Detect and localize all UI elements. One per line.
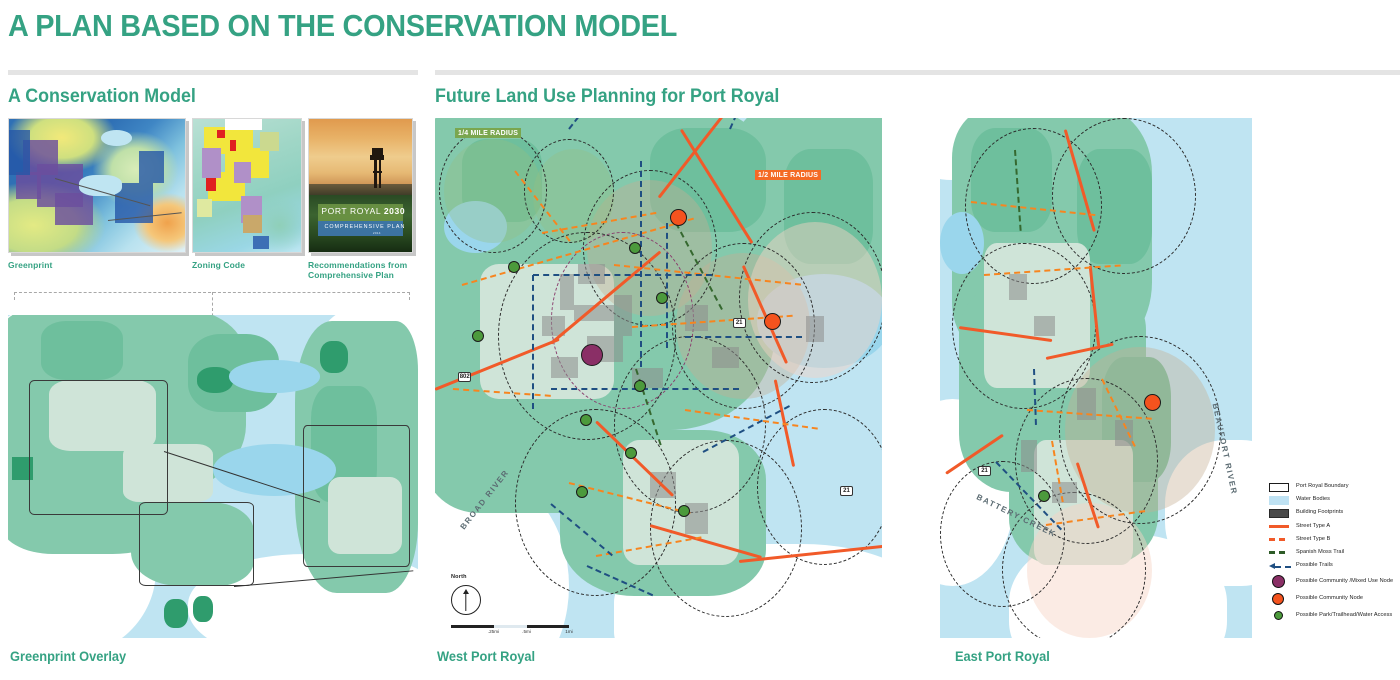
radius-tag-half-mile: 1/2 MILE RADIUS bbox=[755, 170, 821, 180]
greenprint-priority bbox=[197, 367, 234, 393]
possible-trail-arrow-icon bbox=[1269, 561, 1291, 571]
panel-caption-east-port-royal: East Port Royal bbox=[955, 649, 1050, 664]
map-east-port-royal[interactable]: 21 BEAUFORT RIVER BATTERY CREEK bbox=[940, 118, 1252, 638]
zoning-parcel bbox=[202, 148, 221, 177]
legend-label: Water Bodies bbox=[1296, 495, 1330, 504]
building-footprint bbox=[1034, 316, 1056, 337]
legend-label: Possible Community /Mixed Use Node bbox=[1296, 577, 1393, 586]
section-title-conservation-model: A Conservation Model bbox=[8, 86, 196, 108]
legend-item: Water Bodies bbox=[1269, 495, 1395, 505]
legend-item: Port Royal Boundary bbox=[1269, 482, 1395, 492]
building-footprint bbox=[1021, 440, 1037, 471]
legend-item: Street Type B bbox=[1269, 535, 1395, 545]
town-boundary bbox=[139, 502, 254, 586]
scale-label: .5mi bbox=[522, 629, 531, 634]
node-mixed-use[interactable] bbox=[581, 344, 603, 366]
possible-trail bbox=[640, 161, 642, 367]
community-node-swatch-icon bbox=[1269, 594, 1291, 604]
legend-label: Possible Community Node bbox=[1296, 594, 1363, 603]
highway-shield: 21 bbox=[733, 318, 746, 328]
zoning-parcel bbox=[206, 178, 216, 191]
zoning-parcel bbox=[230, 140, 236, 151]
legend-item: Street Type A bbox=[1269, 522, 1395, 532]
greenprint-water bbox=[101, 130, 133, 146]
section-divider-right bbox=[435, 70, 1400, 75]
thumbnail-comprehensive-plan[interactable]: PORT ROYAL 2030 COMPREHENSIVE PLAN 2014 bbox=[308, 118, 413, 253]
town-boundary bbox=[303, 425, 410, 567]
mixed-use-node-swatch-icon bbox=[1269, 576, 1291, 586]
book-cover-year: 2014 bbox=[373, 231, 381, 235]
greenprint-zone bbox=[9, 130, 30, 175]
legend-label: Possible Park/Trailhead/Water Access bbox=[1296, 611, 1392, 620]
greenprint-priority bbox=[164, 599, 189, 628]
conservation-parcel bbox=[41, 321, 123, 379]
panel-caption-greenprint-overlay: Greenprint Overlay bbox=[10, 649, 126, 664]
thumbnail-caption-greenprint: Greenprint bbox=[8, 260, 178, 270]
town-boundary bbox=[29, 380, 168, 516]
creek bbox=[229, 360, 319, 392]
page-title: A PLAN BASED ON THE CONSERVATION MODEL bbox=[8, 8, 677, 44]
water-swatch-icon bbox=[1269, 495, 1291, 505]
legend-label: Street Type B bbox=[1296, 535, 1330, 544]
node-park[interactable] bbox=[678, 505, 690, 517]
map-legend: Port Royal Boundary Water Bodies Buildin… bbox=[1269, 482, 1395, 626]
scale-label: 1mi bbox=[565, 629, 572, 634]
greenprint-zone bbox=[55, 193, 94, 225]
radius-ring bbox=[739, 212, 882, 384]
zoning-parcel bbox=[243, 215, 262, 234]
thumbnail-caption-comprehensive-plan: Recommendations from Comprehensive Plan bbox=[308, 260, 413, 281]
legend-item: Possible Trails bbox=[1269, 561, 1395, 571]
map-greenprint-overlay[interactable] bbox=[8, 315, 418, 638]
map-west-port-royal[interactable]: 21 802 21 BROAD RIVER bbox=[435, 118, 882, 638]
building-footprint bbox=[1009, 274, 1028, 300]
radius-ring bbox=[757, 409, 882, 565]
section-title-future-land-use: Future Land Use Planning for Port Royal bbox=[435, 86, 779, 108]
node-park[interactable] bbox=[634, 380, 646, 392]
node-park[interactable] bbox=[625, 447, 637, 459]
greenprint-water bbox=[79, 175, 121, 196]
node-community[interactable] bbox=[1144, 394, 1161, 411]
node-community[interactable] bbox=[670, 209, 687, 226]
section-divider-left bbox=[8, 70, 418, 75]
greenprint-priority bbox=[320, 341, 349, 373]
north-arrow-icon bbox=[451, 585, 481, 615]
zoning-parcel bbox=[225, 119, 262, 130]
node-community[interactable] bbox=[764, 313, 781, 330]
zoning-parcel bbox=[253, 236, 268, 249]
highway-shield: 21 bbox=[840, 486, 853, 496]
boundary-swatch-icon bbox=[1269, 482, 1291, 492]
legend-label: Port Royal Boundary bbox=[1296, 482, 1349, 491]
thumbnail-caption-zoning: Zoning Code bbox=[192, 260, 302, 270]
park-node-swatch-icon bbox=[1269, 611, 1291, 621]
possible-trail bbox=[533, 274, 712, 276]
legend-label: Building Footprints bbox=[1296, 508, 1343, 517]
street-b-swatch-icon bbox=[1269, 535, 1291, 545]
node-park[interactable] bbox=[472, 330, 484, 342]
thumbnail-zoning-code[interactable] bbox=[192, 118, 302, 253]
north-label: North bbox=[451, 574, 467, 580]
book-cover-tower bbox=[369, 148, 387, 188]
legend-item: Spanish Moss Trail bbox=[1269, 548, 1395, 558]
book-cover-title: PORT ROYAL 2030 bbox=[321, 206, 405, 216]
highway-shield: 21 bbox=[978, 466, 991, 476]
legend-item: Building Footprints bbox=[1269, 508, 1395, 518]
street-a-swatch-icon bbox=[1269, 522, 1291, 532]
radius-tag-quarter-mile: 1/4 MILE RADIUS bbox=[455, 128, 521, 138]
building-footprint bbox=[551, 357, 578, 378]
legend-label: Street Type A bbox=[1296, 522, 1330, 531]
building-footprint bbox=[614, 295, 632, 337]
book-cover-sky bbox=[309, 119, 412, 188]
panel-caption-west-port-royal: West Port Royal bbox=[437, 649, 535, 664]
book-cover-subtitle: COMPREHENSIVE PLAN bbox=[324, 224, 405, 230]
radius-ring bbox=[1052, 118, 1196, 274]
legend-item: Possible Community /Mixed Use Node bbox=[1269, 574, 1395, 588]
building-footprint bbox=[712, 347, 739, 368]
moss-trail-swatch-icon bbox=[1269, 548, 1291, 558]
legend-item: Possible Park/Trailhead/Water Access bbox=[1269, 609, 1395, 623]
greenprint-zone bbox=[139, 151, 164, 183]
scale-bar: .25mi .5mi 1mi bbox=[451, 625, 569, 634]
scale-label: .25mi bbox=[488, 629, 499, 634]
building-footprint bbox=[560, 274, 573, 310]
legend-item: Possible Community Node bbox=[1269, 592, 1395, 606]
legend-label: Spanish Moss Trail bbox=[1296, 548, 1344, 557]
zoning-parcel bbox=[217, 130, 226, 138]
building-footprint bbox=[685, 305, 707, 331]
zoning-parcel bbox=[197, 199, 212, 218]
greenprint-zone bbox=[16, 172, 41, 199]
greenprint-priority bbox=[193, 596, 214, 622]
possible-trail bbox=[685, 336, 801, 338]
highway-shield: 802 bbox=[458, 372, 471, 382]
legend-label: Possible Trails bbox=[1296, 561, 1333, 570]
building-footprint bbox=[1052, 482, 1077, 503]
building-swatch-icon bbox=[1269, 508, 1291, 518]
zoning-parcel bbox=[234, 162, 251, 183]
thumbnail-greenprint[interactable] bbox=[8, 118, 186, 253]
building-footprint bbox=[806, 316, 824, 342]
zoning-parcel bbox=[260, 132, 279, 151]
